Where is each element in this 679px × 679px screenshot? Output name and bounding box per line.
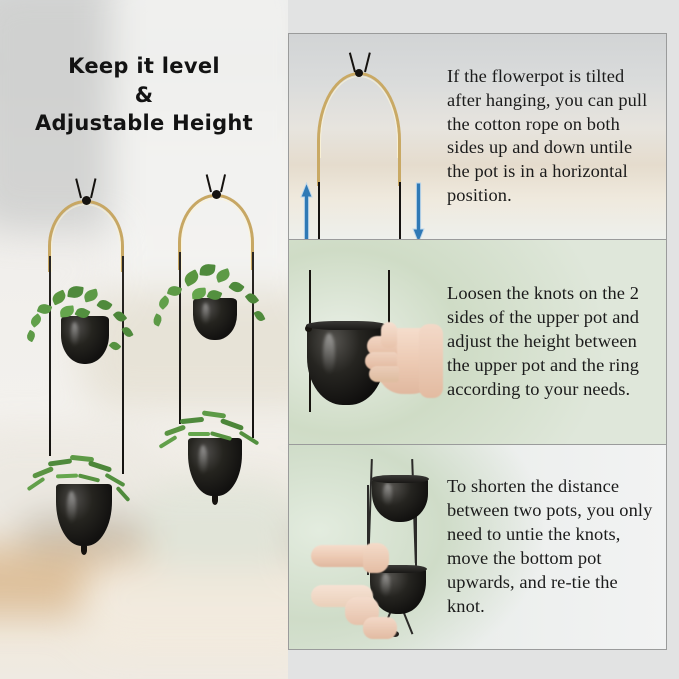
pot-drain-knot (81, 546, 87, 555)
top-knot (212, 190, 221, 199)
rope-knot (355, 69, 363, 77)
bottom-knot-strand-right (403, 612, 414, 635)
instruction-panel-stack: If the flowerpot is tilted after hanging… (288, 33, 667, 650)
cord-left (49, 256, 51, 456)
pot-drain-knot (212, 496, 218, 505)
panel-shorten-distance: To shorten the distance between two pots… (289, 444, 666, 649)
upper-pot (372, 478, 428, 522)
panel-caption: Loosen the knots on the 2 sides of the u… (441, 282, 666, 402)
product-infographic: Keep it level & Adjustable Height (0, 0, 679, 679)
upper-pot (61, 316, 109, 364)
two-hands-untying-knot-between-two-pots (289, 445, 441, 649)
gold-arch-with-ropes-diagram (289, 34, 441, 239)
hand-thumb (381, 322, 397, 348)
upper-hand (363, 543, 389, 573)
cord-right (122, 256, 124, 474)
hand-finger-ring (369, 366, 399, 382)
cord-right (252, 252, 254, 438)
top-knot (82, 196, 91, 205)
hanging-planter-left (30, 196, 142, 576)
cord-right (388, 270, 390, 330)
panel-caption: If the flowerpot is tilted after hanging… (441, 65, 666, 209)
upper-pot (193, 298, 237, 340)
panel-tilt-adjust: If the flowerpot is tilted after hanging… (289, 34, 666, 239)
arrow-up-left-icon (300, 182, 313, 239)
hand-adjusting-knot-on-pot (289, 240, 441, 444)
cotton-rope-right (399, 182, 401, 239)
cotton-rope-left (318, 182, 320, 239)
lower-pot (56, 484, 112, 546)
hand-wrist (419, 324, 443, 398)
cord-left (179, 252, 181, 424)
pot-rim (306, 321, 386, 330)
lower-hand (363, 617, 397, 639)
upper-pot-rim (371, 475, 429, 483)
hanging-planter-right (160, 190, 272, 520)
panel-caption: To shorten the distance between two pots… (441, 475, 666, 619)
panel-loosen-knots: Loosen the knots on the 2 sides of the u… (289, 239, 666, 444)
lower-pot (188, 438, 242, 496)
arrow-down-right-icon (412, 182, 425, 239)
page-title: Keep it level & Adjustable Height (8, 52, 280, 138)
